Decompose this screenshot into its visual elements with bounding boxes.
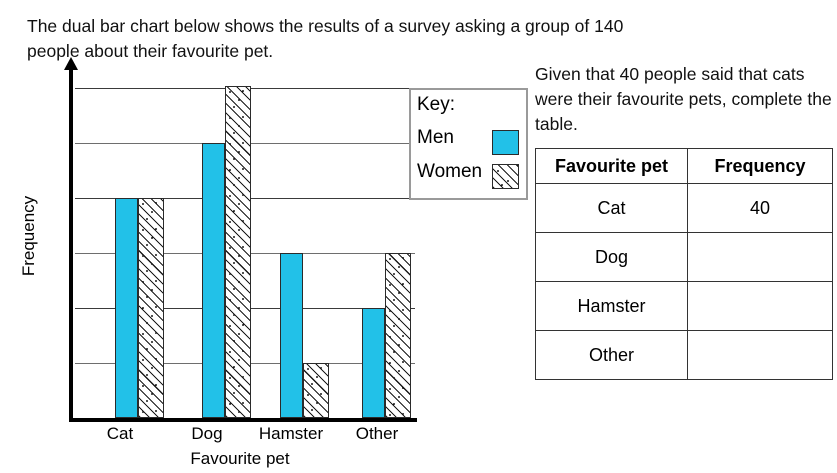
- question-paragraph: Given that 40 people said that cats were…: [535, 62, 835, 137]
- legend-label-women: Women: [417, 161, 482, 183]
- table-row: Dog: [536, 233, 833, 282]
- y-axis-title: Frequency: [19, 181, 39, 291]
- x-tick-label-hamster: Hamster: [243, 424, 339, 444]
- table-cell-pet-dog: Dog: [536, 233, 688, 282]
- table-row: Other: [536, 331, 833, 380]
- chart-legend: Key: Men Women: [409, 88, 528, 200]
- bar-hamster-men: [280, 253, 303, 418]
- table-header-row: Favourite pet Frequency: [536, 149, 833, 184]
- plot-area: [75, 88, 415, 418]
- bar-hamster-women: [303, 363, 329, 418]
- y-axis-line: [69, 66, 73, 421]
- bar-cat-men: [115, 198, 138, 418]
- x-tick-label-cat: Cat: [85, 424, 155, 444]
- legend-swatch-women: [492, 164, 519, 189]
- table-cell-frequency-hamster[interactable]: [688, 282, 833, 331]
- x-axis-title: Favourite pet: [110, 449, 370, 469]
- table-cell-pet-hamster: Hamster: [536, 282, 688, 331]
- intro-paragraph: The dual bar chart below shows the resul…: [27, 14, 647, 64]
- table-cell-pet-cat: Cat: [536, 184, 688, 233]
- table-row: Cat 40: [536, 184, 833, 233]
- table-header-frequency: Frequency: [688, 149, 833, 184]
- bar-cat-women: [138, 198, 164, 418]
- table-row: Hamster: [536, 282, 833, 331]
- bar-dog-women: [225, 86, 251, 418]
- table-cell-frequency-cat[interactable]: 40: [688, 184, 833, 233]
- x-tick-label-dog: Dog: [172, 424, 242, 444]
- table-header-pet: Favourite pet: [536, 149, 688, 184]
- x-tick-label-other: Other: [341, 424, 413, 444]
- table-cell-frequency-dog[interactable]: [688, 233, 833, 282]
- legend-title: Key:: [417, 94, 455, 116]
- legend-label-men: Men: [417, 127, 454, 149]
- bar-other-women: [385, 253, 411, 418]
- frequency-table: Favourite pet Frequency Cat 40 Dog Hamst…: [535, 148, 833, 380]
- bar-dog-men: [202, 143, 225, 418]
- table-cell-pet-other: Other: [536, 331, 688, 380]
- x-axis-line: [69, 418, 417, 422]
- table-cell-frequency-other[interactable]: [688, 331, 833, 380]
- legend-swatch-men: [492, 130, 519, 155]
- bar-other-men: [362, 308, 385, 418]
